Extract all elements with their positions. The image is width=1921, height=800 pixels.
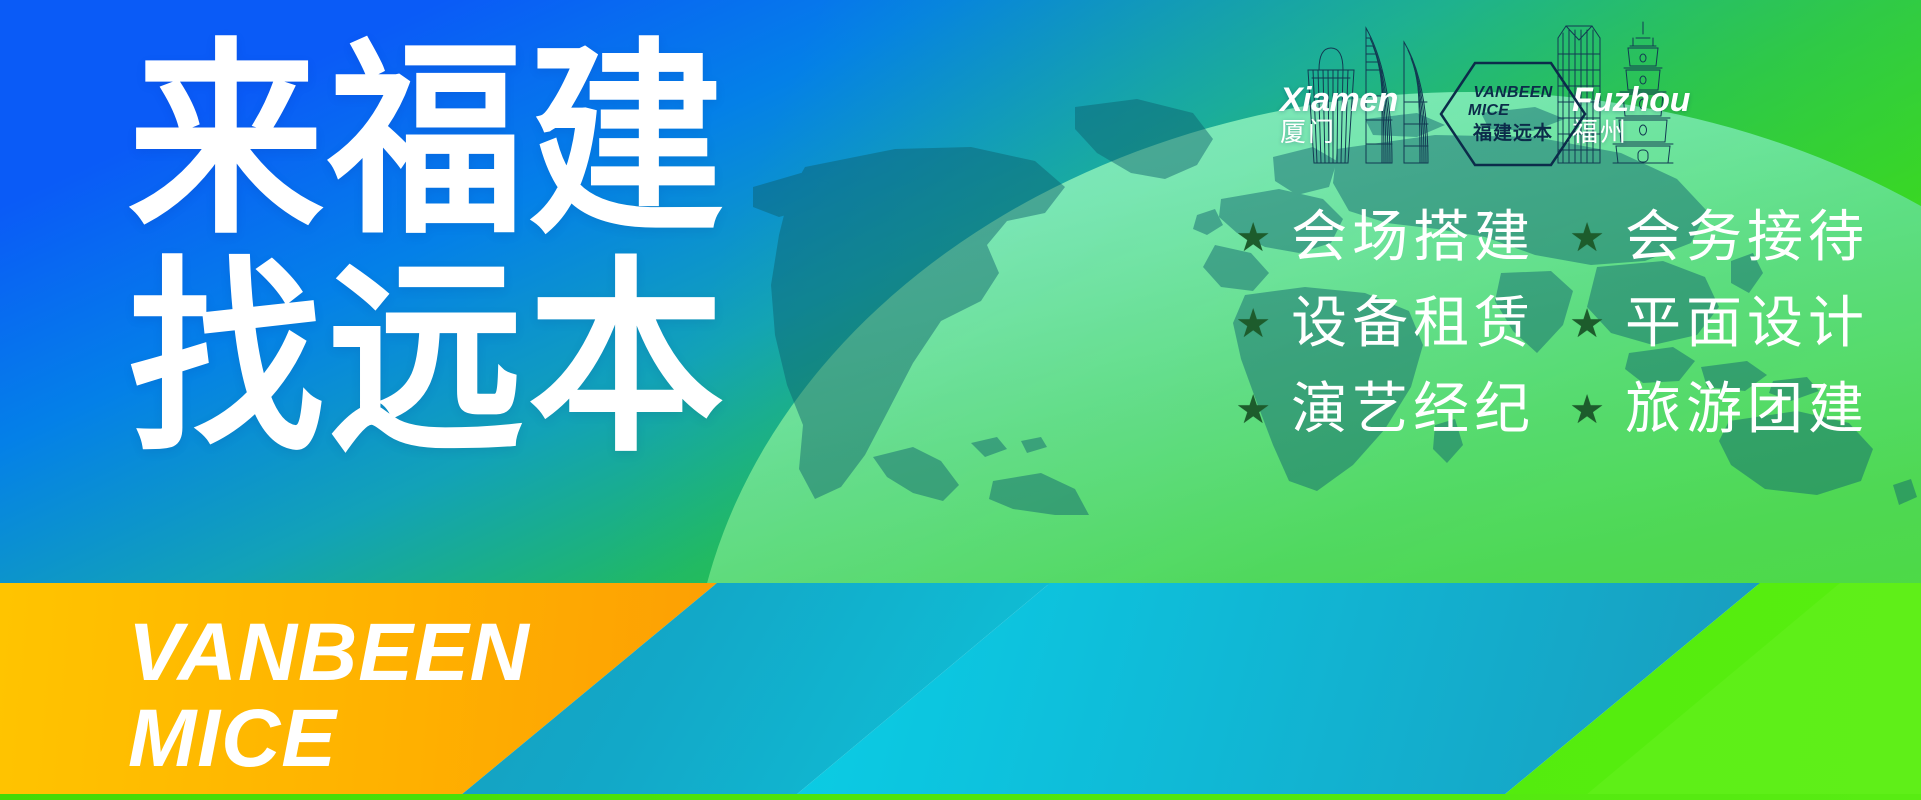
service-item: ★ 旅游团建 [1569,380,1869,440]
star-icon: ★ [1569,218,1605,258]
service-label: 旅游团建 [1625,380,1869,440]
services-list: ★ 会场搭建 ★ 会务接待 ★ 设备租赁 ★ 平面设计 [1235,208,1869,440]
badge-en-line-2: MICE [1468,102,1509,119]
star-icon: ★ [1235,218,1271,258]
headline-block: 来福建 找远本 [128,36,728,454]
city-name-en: Fuzhou [1572,82,1690,118]
badge-cn: 福建远本 [1473,122,1553,144]
promotional-banner: 来福建 找远本 ★ 会场搭建 ★ 会务接待 ★ 设备租赁 [0,0,1921,800]
headline-line-2: 找远本 [128,254,728,466]
brand-line-1: VANBEEN [128,612,530,694]
service-label: 会场搭建 [1291,208,1535,268]
city-name-cn: 福州 [1572,118,1690,148]
star-icon: ★ [1235,390,1271,430]
vanbeen-hexagon-badge: VANBEEN MICE 福建远本 [1438,60,1588,168]
service-label: 演艺经纪 [1291,380,1535,440]
service-label: 会务接待 [1625,208,1869,268]
services-row: ★ 设备租赁 ★ 平面设计 [1235,294,1869,354]
hexagon-badge-text: VANBEEN MICE 福建远本 [1438,60,1588,168]
xiamen-sail-tower-2-icon [1404,42,1428,163]
brand-wordmark: VANBEEN MICE [128,612,530,780]
service-item: ★ 平面设计 [1569,294,1869,354]
brand-line-2: MICE [128,698,530,780]
star-icon: ★ [1569,304,1605,344]
city-label-xiamen: Xiamen 厦门 [1280,82,1398,148]
services-row: ★ 演艺经纪 ★ 旅游团建 [1235,380,1869,440]
star-icon: ★ [1569,390,1605,430]
service-item: ★ 会场搭建 [1235,208,1535,268]
bottom-brand-bar: VANBEEN MICE [0,583,1921,800]
city-label-fuzhou: Fuzhou 福州 [1572,82,1690,148]
city-name-cn: 厦门 [1280,118,1398,148]
service-label: 设备租赁 [1291,294,1535,354]
service-item: ★ 演艺经纪 [1235,380,1535,440]
city-name-en: Xiamen [1280,82,1398,118]
headline-line-1: 来福建 [128,36,728,248]
banner-stage: 来福建 找远本 ★ 会场搭建 ★ 会务接待 ★ 设备租赁 [0,0,1921,585]
badge-en-line-1: VANBEEN [1473,84,1552,101]
service-item: ★ 设备租赁 [1235,294,1535,354]
services-row: ★ 会场搭建 ★ 会务接待 [1235,208,1869,268]
service-item: ★ 会务接待 [1569,208,1869,268]
city-logo-cluster: Xiamen 厦门 Fuzhou 福州 VANBEEN MICE 福建远本 [1300,8,1720,173]
bar-bottom-strip [0,794,1921,800]
service-label: 平面设计 [1625,294,1869,354]
star-icon: ★ [1235,304,1271,344]
